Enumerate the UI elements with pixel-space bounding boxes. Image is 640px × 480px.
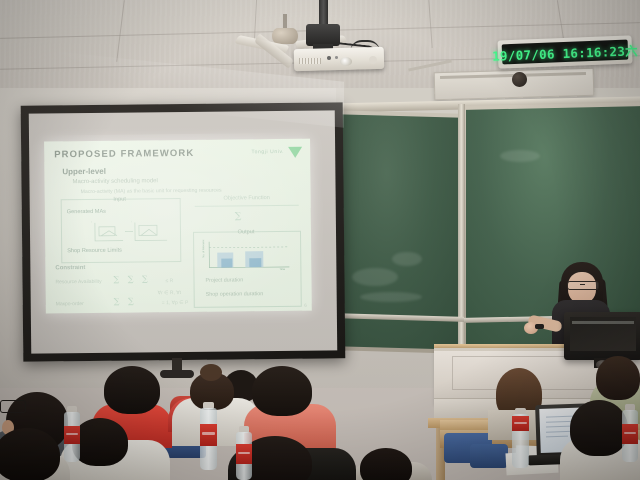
student-head <box>72 418 128 466</box>
lecture-hall-photo: 19/07/06 16:16:23六 PROPOSED FRAMEWORK To… <box>0 0 640 480</box>
bottle-label <box>200 424 217 446</box>
svg-text:↑: ↑ <box>131 220 133 224</box>
objective-function-label: Objective Function <box>197 195 297 202</box>
output-bullet-project-duration: Project duration <box>205 277 243 283</box>
constraint-1-label: Resource Availability <box>55 279 101 285</box>
constraint-1-math: ∑ ∑ ∑ <box>113 274 150 283</box>
presentation-clicker[interactable] <box>535 324 544 329</box>
projector-vent <box>299 58 321 64</box>
student-head <box>0 428 60 480</box>
projector-led-icon <box>327 56 331 60</box>
svg-text:Time: Time <box>279 267 285 271</box>
constraint-2-label: Макро-order <box>56 301 84 307</box>
student-head <box>360 448 412 480</box>
monitor-screen-glare <box>572 321 634 324</box>
hair-bun <box>200 364 222 381</box>
slide-title: PROPOSED FRAMEWORK <box>54 148 194 160</box>
clock-face: 19/07/06 16:16:23六 <box>502 40 629 65</box>
objective-divider <box>195 205 299 207</box>
constraint-label: Constraint <box>55 265 85 271</box>
ceiling-fan-motor <box>272 28 298 44</box>
slide-heading: Upper-level <box>62 167 106 176</box>
glasses-icon <box>0 400 26 413</box>
slide-subheading: Macro-activity scheduling model <box>72 178 157 185</box>
slide-logo-text: Tongji Univ. <box>251 149 284 155</box>
classroom-chair <box>470 444 508 468</box>
output-bullet-shop-operation-duration: Shop operation duration <box>206 291 264 298</box>
input-bullet-generated-mas: Generated MAs <box>67 209 106 215</box>
chalk-residue <box>392 252 422 266</box>
projection-screen: PROPOSED FRAMEWORK Tongji Univ. Upper-le… <box>21 102 346 361</box>
mini-network-diagram: ↑↑ <box>89 218 171 245</box>
glasses-icon <box>567 281 599 290</box>
chalk-residue <box>500 150 540 162</box>
constraint-1-rhs: ≤ R <box>165 278 173 284</box>
projector-led-icon <box>335 56 338 59</box>
clock-display-text: 19/07/06 16:16:23六 <box>492 40 638 65</box>
svg-text:No. of Resource: No. of Resource <box>201 239 205 258</box>
triangle-logo-icon <box>288 147 302 158</box>
projected-slide: PROPOSED FRAMEWORK Tongji Univ. Upper-le… <box>44 139 312 314</box>
student-head <box>570 400 628 456</box>
slide-subsubheading: Macro-activity (MA) as the basic unit fo… <box>81 188 222 195</box>
chalk-residue <box>360 292 422 302</box>
sensor-icon <box>512 72 527 87</box>
constraint-2-math: ∑ ∑ <box>114 296 137 305</box>
constraint-2-rhs: = 1, ∀p ∈ P <box>162 300 189 306</box>
bottle-label <box>236 444 252 464</box>
bottle-label <box>622 424 638 444</box>
svg-text:↑: ↑ <box>91 220 93 224</box>
bottle-label <box>64 426 80 444</box>
student-head <box>252 366 312 416</box>
constraint-1-sub: ∀r ∈ R, ∀t <box>158 290 181 296</box>
led-wall-clock: 19/07/06 16:16:23六 <box>498 35 633 68</box>
projector-pole <box>319 0 328 26</box>
output-gantt-chart: No. of Resource Time <box>201 239 291 272</box>
student-head <box>596 356 640 400</box>
input-bullet-shop-resource-limits: Shop Resource Limits <box>67 248 122 255</box>
student-head <box>104 366 160 414</box>
projector-focus-knob <box>369 56 377 64</box>
chalk-residue <box>352 268 398 286</box>
slide-page-number: 6 <box>304 303 307 308</box>
glasses-bridge <box>580 284 585 285</box>
objective-formula: ∑ <box>235 211 242 221</box>
projector-lens <box>340 57 352 66</box>
screen-stand-base <box>160 370 194 378</box>
bottle-label <box>512 416 529 431</box>
